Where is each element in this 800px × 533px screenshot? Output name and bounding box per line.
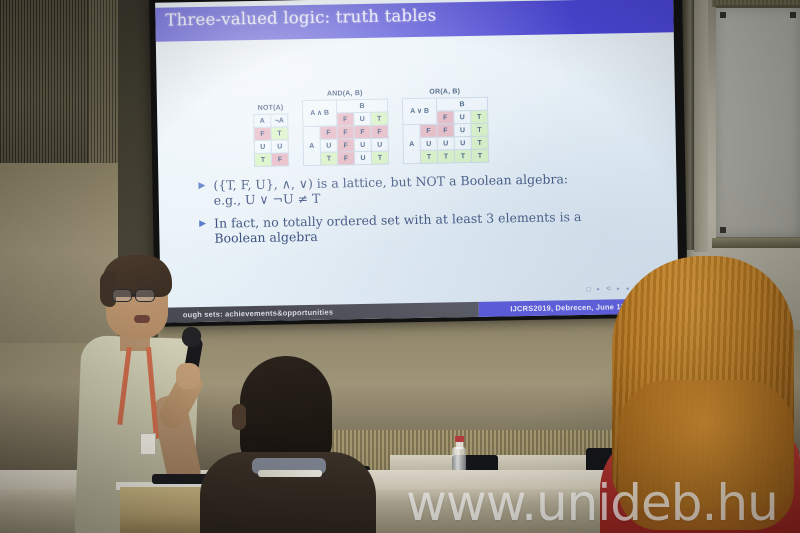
presentation-slide: Three-valued logic: truth tables NOT(A) …	[155, 0, 679, 323]
table-row: T F	[254, 153, 288, 167]
conference-badge	[140, 433, 156, 455]
truth-table-or: OR(A, B) A ∨ B B F U T A F	[402, 88, 489, 165]
whiteboard	[716, 5, 800, 240]
table-row: A ¬A	[254, 114, 288, 128]
bullet-body: In fact, no totally ordered set with at …	[214, 209, 582, 246]
table-row: U U	[254, 140, 288, 154]
cell: U	[454, 124, 471, 137]
presenter-mouth	[134, 315, 150, 323]
row-header: U	[420, 137, 437, 150]
slide-bullet-list: ▶ ({T, F, U}, ∧, ∨) is a lattice, but NO…	[198, 170, 649, 254]
row-group-a: A	[303, 126, 321, 165]
list-item: ▶ ({T, F, U}, ∧, ∨) is a lattice, but NO…	[198, 170, 648, 208]
header-not-a: ¬A	[271, 114, 288, 127]
table-or: A ∨ B B F U T A F F U	[402, 97, 489, 165]
cell: U	[454, 137, 471, 150]
cell: F	[337, 126, 354, 139]
acoustic-wall-panel-left-strip	[88, 0, 120, 165]
presenter-hand	[176, 363, 200, 389]
projection-screen: Three-valued logic: truth tables NOT(A) …	[155, 0, 679, 323]
cell: U	[354, 151, 371, 164]
row-header: F	[420, 124, 437, 137]
cell-result: T	[271, 127, 288, 140]
col-header: T	[371, 112, 388, 125]
cell: T	[471, 136, 488, 149]
list-item: ▶ In fact, no totally ordered set with a…	[199, 208, 649, 246]
cell: T	[471, 123, 488, 136]
cell: T	[371, 151, 388, 164]
cell-a: F	[254, 127, 271, 140]
whiteboard-rail-bottom	[712, 238, 800, 248]
cell-a: U	[254, 140, 271, 153]
cell: F	[371, 125, 388, 138]
corner-label-and: A ∧ B	[302, 100, 336, 127]
col-header: T	[471, 110, 488, 123]
whiteboard-clip	[720, 12, 726, 18]
col-group-b: B	[436, 97, 487, 111]
photograph-scene: Three-valued logic: truth tables NOT(A) …	[0, 0, 800, 533]
cell: T	[437, 150, 454, 163]
cell: F	[437, 124, 454, 137]
door-frame-right-inner	[694, 0, 708, 252]
eyeglasses-left-lens-icon	[112, 289, 132, 302]
cell: U	[437, 137, 454, 150]
cell: F	[337, 152, 354, 165]
cell-result: U	[271, 140, 288, 153]
table-row: F T	[254, 127, 288, 141]
cell: F	[354, 125, 371, 138]
cell-result: F	[271, 153, 288, 166]
cell-a: T	[254, 153, 271, 166]
table-not: A ¬A F T U U T F	[253, 113, 289, 167]
col-group-b: B	[336, 99, 387, 113]
bullet-line-1: In fact, no totally ordered set with at …	[214, 209, 582, 231]
audience-member-lanyard	[258, 470, 322, 477]
row-header: T	[320, 152, 337, 165]
bullet-body: ({T, F, U}, ∧, ∨) is a lattice, but NOT …	[213, 171, 568, 207]
whiteboard-clip	[720, 227, 726, 233]
col-header: F	[437, 111, 454, 124]
cell: T	[454, 150, 471, 163]
bullet-line-2: Boolean algebra	[214, 229, 318, 246]
cell: U	[354, 138, 371, 151]
cell: F	[337, 139, 354, 152]
bullet-marker-icon: ▶	[199, 216, 206, 246]
truth-tables-group: NOT(A) A ¬A F T U U	[252, 68, 654, 167]
eyeglasses-right-lens-icon	[135, 289, 155, 302]
audience-member-ear	[232, 404, 246, 430]
whiteboard-clip	[790, 12, 796, 18]
table-caption-not: NOT(A)	[253, 104, 288, 112]
corner-label-or: A ∨ B	[402, 98, 436, 125]
row-header: U	[320, 139, 337, 152]
wall-panel-lower-left	[0, 163, 120, 343]
table-caption-and: AND(A, B)	[302, 90, 388, 99]
row-header: F	[320, 126, 337, 139]
col-header: U	[354, 112, 371, 125]
bullet-line-2: e.g., U ∨ ¬U ≠ T	[214, 191, 321, 208]
cell: U	[371, 138, 388, 151]
bullet-marker-icon: ▶	[198, 178, 205, 208]
truth-table-and: AND(A, B) A ∧ B B F U T A	[302, 90, 389, 167]
eyeglasses-bridge	[132, 294, 136, 296]
row-header: T	[420, 150, 437, 163]
audience-woman-hair-lower	[618, 380, 794, 530]
audience-member-head	[240, 356, 332, 464]
table-and: A ∧ B B F U T A F F F	[302, 99, 389, 167]
cell: T	[471, 149, 488, 162]
table-caption-or: OR(A, B)	[402, 88, 488, 97]
row-group-a: A	[403, 124, 421, 163]
col-header: F	[337, 113, 354, 126]
truth-table-not: NOT(A) A ¬A F T U U	[253, 104, 289, 167]
header-a: A	[254, 114, 271, 127]
col-header: U	[454, 111, 471, 124]
water-bottle-cap	[455, 436, 464, 442]
bullet-line-1: ({T, F, U}, ∧, ∨) is a lattice, but NOT …	[213, 171, 568, 192]
